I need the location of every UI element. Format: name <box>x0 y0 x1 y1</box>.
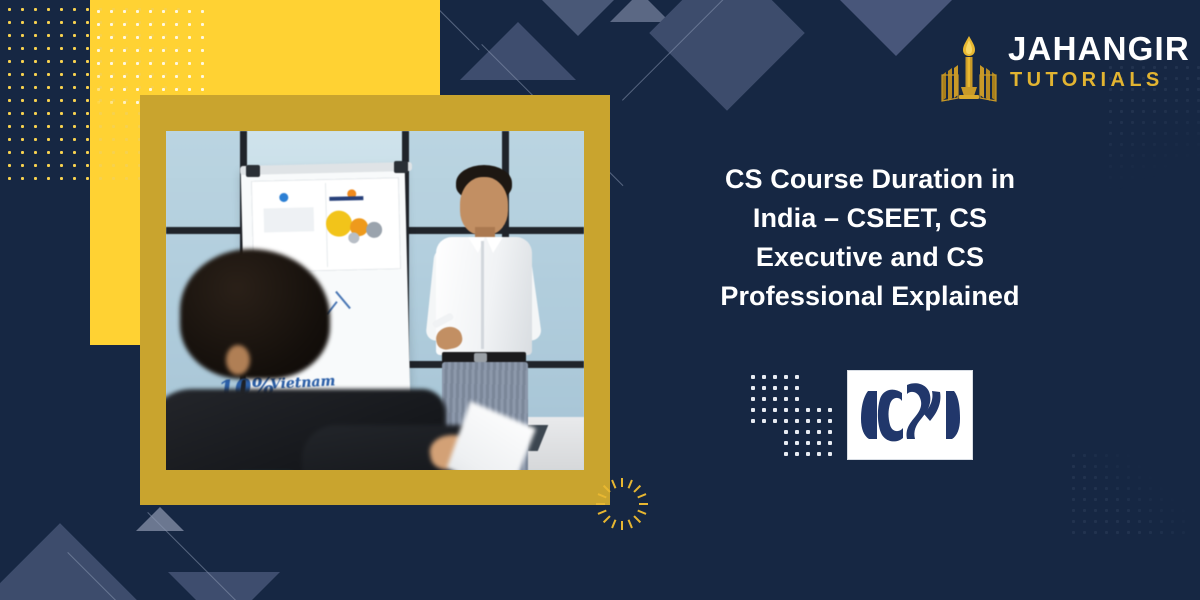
brand-logo[interactable]: JAHANGIR TUTORIALS <box>938 28 1138 106</box>
logo-name: JAHANGIR <box>1008 32 1190 67</box>
hero-photo: 58% Sweden UK India Vietnam China 10% <box>166 131 584 470</box>
logo-wordmark: JAHANGIR TUTORIALS <box>1008 32 1190 94</box>
torch-book-icon <box>938 32 1000 102</box>
subtle-dots-bottom-right <box>1068 450 1188 540</box>
sunburst-icon <box>596 478 648 530</box>
page-title: CS Course Duration in India – CSEET, CS … <box>660 160 1080 316</box>
title-line-4: Professional Explained <box>660 277 1080 316</box>
title-line-3: Executive and CS <box>660 238 1080 277</box>
title-line-1: CS Course Duration in <box>660 160 1080 199</box>
stepped-dot-grid <box>748 372 836 460</box>
icsi-logo <box>848 371 972 459</box>
logo-subtitle: TUTORIALS <box>1010 67 1190 94</box>
promo-banner: 58% Sweden UK India Vietnam China 10% <box>0 0 1200 600</box>
title-line-2: India – CSEET, CS <box>660 199 1080 238</box>
